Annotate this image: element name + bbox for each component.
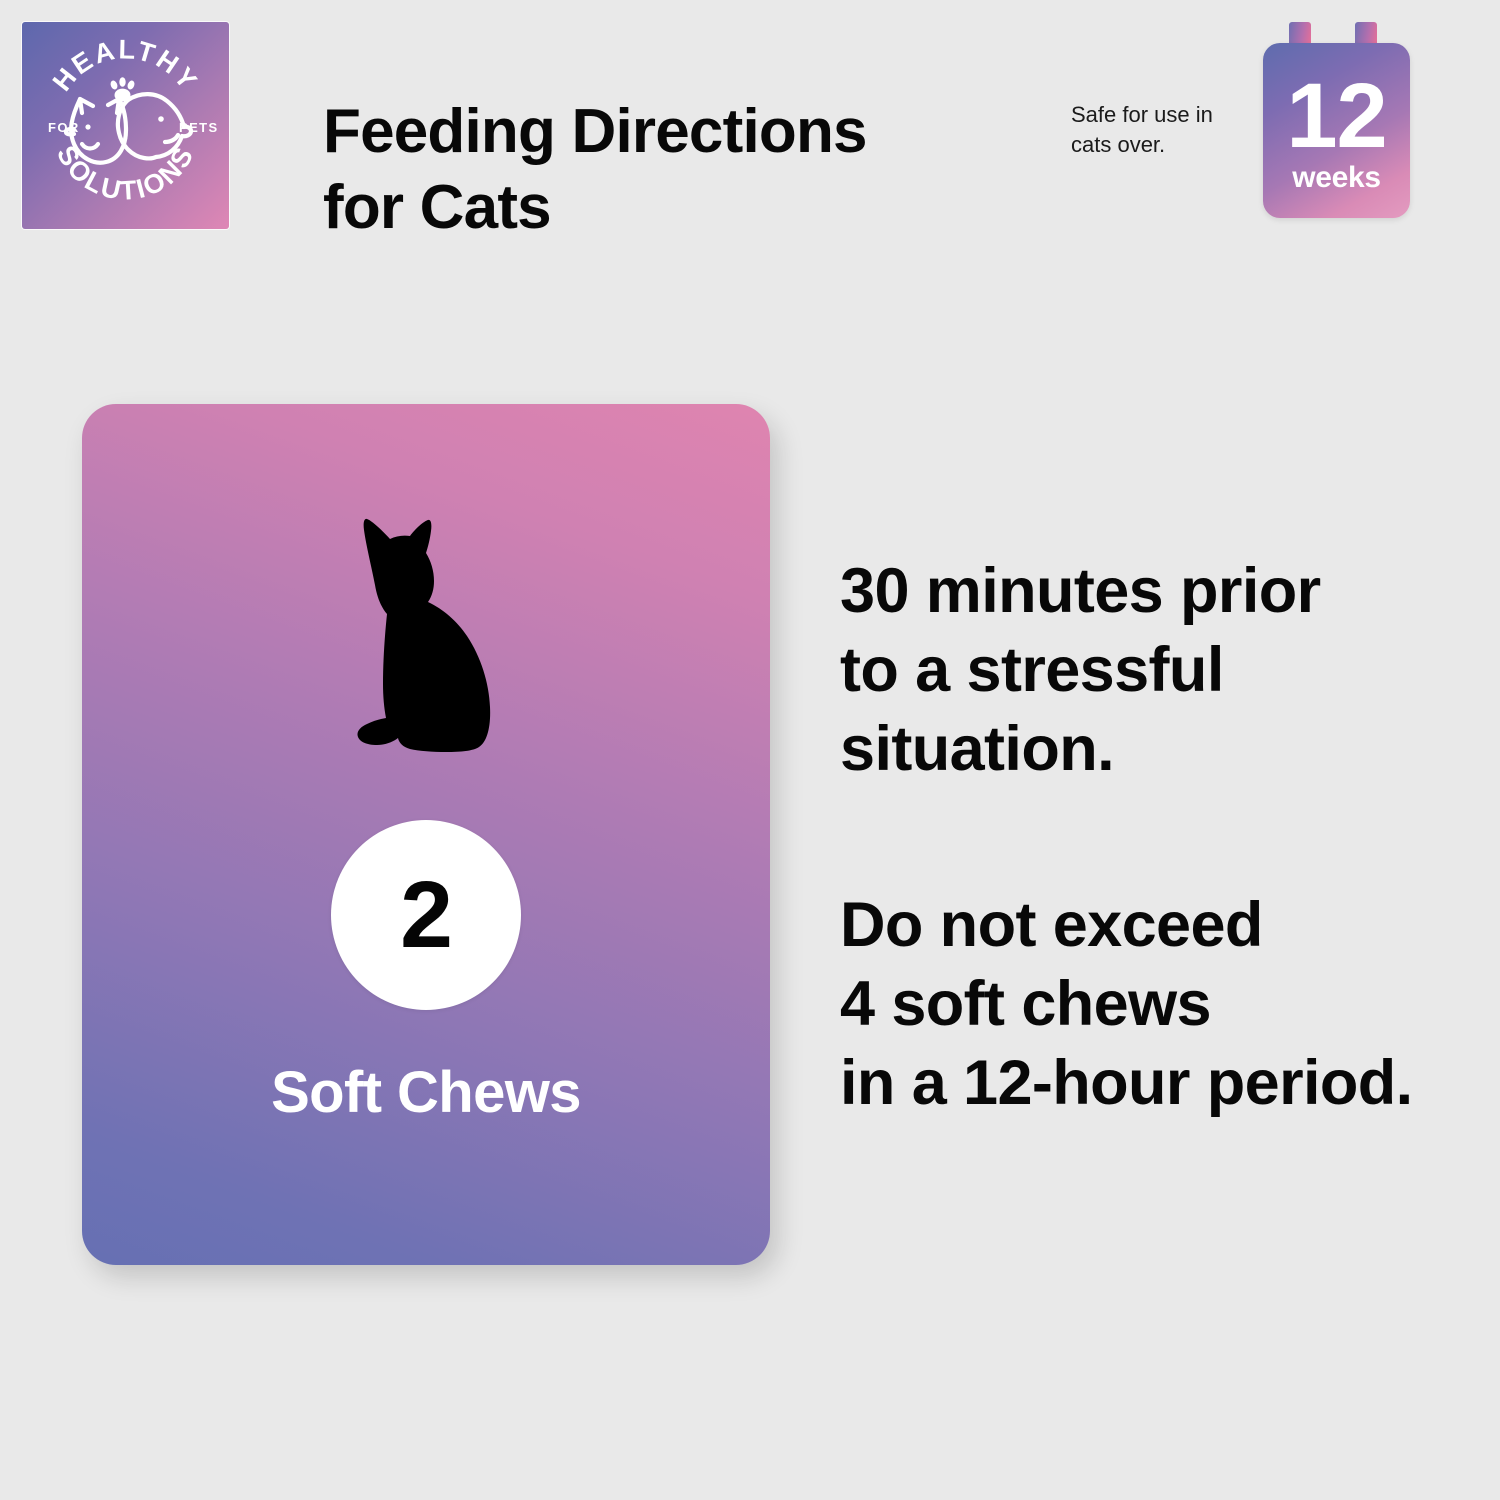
page-title-line-2: for Cats <box>323 170 1023 246</box>
logo-arc-top-text: HEALTHY <box>47 34 204 96</box>
logo-arc-bottom-text: SOLUTIONS <box>51 141 200 206</box>
minimum-age-badge: 12 weeks <box>1260 20 1412 220</box>
instruction-timing: 30 minutes prior to a stressful situatio… <box>840 552 1480 789</box>
instruction-limit-line-1: Do not exceed <box>840 886 1480 965</box>
age-badge-unit: weeks <box>1292 162 1381 194</box>
dose-card: 2 Soft Chews <box>82 404 770 1265</box>
brand-logo-artwork: HEALTHY SOLUTIONS FOR PETS <box>22 22 229 229</box>
instruction-limit: Do not exceed 4 soft chews in a 12-hour … <box>840 886 1480 1123</box>
instruction-limit-line-2: 4 soft chews <box>840 965 1480 1044</box>
instruction-timing-line-2: to a stressful <box>840 631 1480 710</box>
brand-logo: HEALTHY SOLUTIONS FOR PETS <box>22 22 229 229</box>
age-badge-number: 12 <box>1286 74 1386 158</box>
feeding-directions-page: HEALTHY SOLUTIONS FOR PETS <box>0 0 1500 1500</box>
instructions: 30 minutes prior to a stressful situatio… <box>840 552 1480 1123</box>
cat-illustration <box>82 499 770 774</box>
page-title: Feeding Directions for Cats <box>323 94 1023 246</box>
page-title-line-1: Feeding Directions <box>323 94 1023 170</box>
calendar-icon: 12 weeks <box>1263 43 1410 218</box>
age-safety-note-line-1: Safe for use in <box>1071 100 1246 130</box>
age-safety-note: Safe for use in cats over. <box>1071 100 1246 160</box>
dose-quantity-number: 2 <box>400 868 452 963</box>
instruction-timing-line-3: situation. <box>840 710 1480 789</box>
dose-unit-label: Soft Chews <box>82 1059 770 1126</box>
cat-silhouette-icon <box>333 499 533 774</box>
age-safety-note-line-2: cats over. <box>1071 130 1246 160</box>
dose-quantity-badge: 2 <box>331 820 521 1010</box>
instruction-timing-line-1: 30 minutes prior <box>840 552 1480 631</box>
instruction-limit-line-3: in a 12-hour period. <box>840 1044 1480 1123</box>
